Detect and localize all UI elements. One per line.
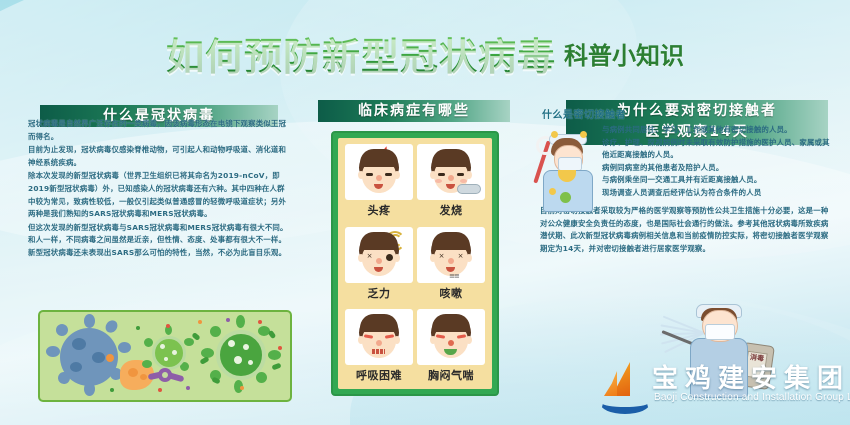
blue-virus-nucleus-3	[70, 362, 82, 372]
symptom-item-cough: ×× ≡≡ 咳嗽	[415, 227, 487, 301]
symptom-row-1: 头疼 发烧	[343, 144, 487, 218]
contact-item: 病例同病室的其他患者及陪护人员。	[602, 162, 832, 175]
cough-face-icon: ×× ≡≡	[417, 227, 485, 283]
company-logo: 宝鸡建安集团 Baoji Construction and Installati…	[600, 358, 850, 420]
company-name-en: Baoji Construction and Installation Grou…	[654, 392, 850, 403]
symptom-card: 头疼 发烧	[331, 131, 499, 396]
green-virus-small-body	[152, 336, 186, 370]
green-virus-large-dot-2	[243, 344, 249, 350]
blue-virus-nucleus-1	[72, 338, 86, 350]
left-panel-body: 冠状病毒是自然界广泛存在的一类病毒，因该病毒形态在电镜下观察类似王冠而得名。 目…	[28, 118, 290, 261]
orange-cell-nucleus-2	[140, 374, 147, 380]
speck-10	[278, 346, 282, 350]
contact-item: 与病例共同居住、学习、工作或其他有密切接触的人员。	[602, 124, 832, 137]
speck-3	[198, 320, 202, 324]
bacteria-rod-4	[271, 363, 281, 371]
doctor-with-mask-icon	[537, 118, 599, 210]
poster-title-main: 如何预防新型冠状病毒	[166, 26, 556, 81]
left-paragraph-4: 但这次发现的新型冠状病毒与SARS冠状病毒和MERS冠状病毒有很大不同。和人一样…	[28, 222, 290, 260]
green-virus-large-dot-3	[234, 356, 242, 364]
symptom-grid: 头疼 发烧	[338, 138, 492, 389]
symptom-label: 头疼	[343, 202, 415, 218]
speck-7	[186, 386, 190, 390]
chest-tightness-face-icon	[417, 309, 485, 365]
green-virus-small-dot-2	[172, 350, 177, 355]
symptom-row-3: 呼吸困难 胸闷气喘	[343, 309, 487, 383]
symptom-label: 发烧	[415, 202, 487, 218]
middle-panel-header: 临床病症有哪些	[318, 100, 510, 122]
speck-8	[240, 386, 244, 390]
symptom-label: 呼吸困难	[343, 367, 415, 383]
speck-2	[166, 324, 170, 328]
speck-6	[158, 388, 162, 392]
right-panel-body: 什么是密切接触者 与病例共同居住、学习、工作或其他有密切接触的人员。 诊疗、护理…	[540, 96, 832, 255]
left-paragraph-1: 冠状病毒是自然界广泛存在的一类病毒，因该病毒形态在电镜下观察类似王冠而得名。	[28, 118, 290, 143]
speck-5	[258, 320, 262, 324]
close-contact-list: 与病例共同居住、学习、工作或其他有密切接触的人员。 诊疗、护理、探视病例时未采取…	[602, 124, 832, 199]
orange-bud	[106, 354, 114, 362]
symptom-label: 胸闷气喘	[415, 367, 487, 383]
orange-cell-nucleus-1	[128, 368, 138, 377]
symptom-item-headache: 头疼	[343, 144, 415, 218]
symptom-label: 乏力	[343, 285, 415, 301]
green-virus-large-dot-4	[248, 360, 253, 365]
left-paragraph-2: 目前为止发现，冠状病毒仅感染脊椎动物，可引起人和动物呼吸道、消化道和神经系统疾病…	[28, 144, 290, 169]
sail-and-swoosh-logo-mark	[600, 362, 646, 406]
left-paragraph-3: 除本次发现的新型冠状病毒（世界卫生组织已将其命名为2019-nCoV，即2019…	[28, 170, 290, 220]
headache-face-icon	[345, 144, 413, 200]
symptom-item-fever: 发烧	[415, 144, 487, 218]
company-name-cn: 宝鸡建安集团	[652, 358, 850, 395]
contact-item: 与病例乘坐同一交通工具并有近距离接触人员。	[602, 174, 832, 187]
poster-title-subtitle: 科普小知识	[564, 36, 684, 71]
symptom-item-chest-tightness: 胸闷气喘	[415, 309, 487, 383]
blue-virus-nucleus-2	[92, 352, 105, 363]
right-panel-paragraph: 目前对密切接触者采取较为严格的医学观察等预防性公共卫生措施十分必要，这是一种对公…	[540, 205, 832, 255]
fever-face-icon	[417, 144, 485, 200]
speck-4	[226, 318, 230, 322]
bacteria-rod-2	[199, 356, 209, 365]
fatigue-face-icon: ×	[345, 227, 413, 283]
purple-coil-inner	[162, 372, 168, 378]
virus-cell-illustration	[38, 310, 292, 402]
left-panel-text: 冠状病毒是自然界广泛存在的一类病毒，因该病毒形态在电镜下观察类似王冠而得名。 目…	[28, 118, 290, 260]
speck-1	[136, 326, 140, 330]
symptom-label: 咳嗽	[415, 285, 487, 301]
contact-item: 诊疗、护理、探视病例时未采取有效防护措施的医护人员、家属或其他近距离接触的人员。	[602, 137, 832, 162]
covid-prevention-poster: 如何预防新型冠状病毒科普小知识 什么是冠状病毒 冠状病毒是自然界广泛存在的一类病…	[0, 0, 850, 425]
green-virus-large-dot-1	[228, 340, 235, 347]
green-virus-small-dot-1	[160, 344, 165, 349]
right-panel-paragraph-wrap: 目前对密切接触者采取较为严格的医学观察等预防性公共卫生措施十分必要，这是一种对公…	[540, 205, 832, 255]
breathing-difficulty-face-icon	[345, 309, 413, 365]
speck-9	[110, 388, 114, 392]
symptom-row-2: × 乏力 ×× ≡≡ 咳嗽	[343, 227, 487, 301]
green-virus-large-body	[216, 330, 266, 380]
green-virus-small-dot-3	[164, 357, 168, 361]
symptom-item-breathing-difficulty: 呼吸困难	[343, 309, 415, 383]
symptom-item-fatigue: × 乏力	[343, 227, 415, 301]
contact-item: 现场调查人员调查后经评估认为符合条件的人员	[602, 187, 832, 200]
poster-title-block: 如何预防新型冠状病毒科普小知识	[0, 26, 850, 81]
